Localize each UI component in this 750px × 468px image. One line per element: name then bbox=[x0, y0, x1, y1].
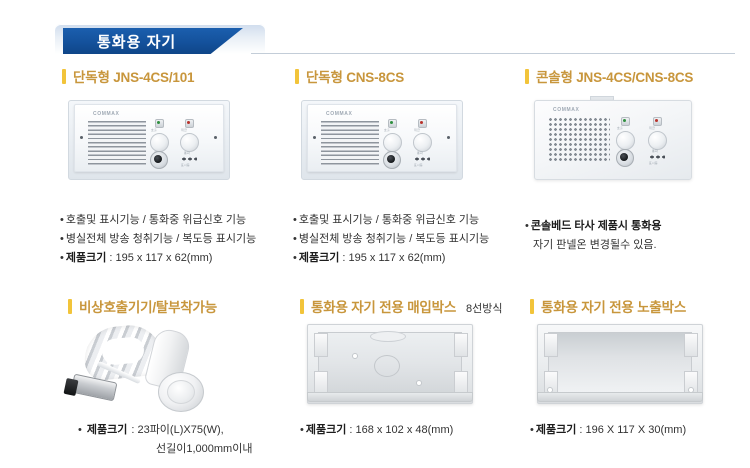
spec-bullet-size: • 제품크기 : 195 x 117 x 62(mm) bbox=[60, 250, 305, 266]
screw-hole-icon bbox=[352, 353, 358, 359]
product-card-emergency-button: 비상호출기기/탈부착가능 bbox=[68, 296, 298, 316]
title-accent-bar bbox=[62, 69, 66, 84]
spec-bullet: • 호출및 표시기능 / 통화중 위급신호 기능 bbox=[60, 212, 305, 228]
size-label: 제품크기 bbox=[299, 250, 339, 266]
product-card-jns-4cs-101: 단독형 JNS-4CS/101 bbox=[62, 66, 292, 86]
size-label: 제품크기 bbox=[66, 250, 106, 266]
product-title-row: 비상호출기기/탈부착가능 bbox=[68, 296, 298, 316]
title-accent-bar bbox=[525, 69, 529, 84]
product-card-console: 콘솔형 JNS-4CS/CNS-8CS bbox=[525, 66, 740, 86]
spec-bullet: • 병실전체 방송 청취기능 / 복도등 표시기능 bbox=[293, 231, 538, 247]
spec-text-continuation: 자기 판넬온 변경될수 있음. bbox=[525, 237, 735, 253]
size-value: : 195 x 117 x 62(mm) bbox=[109, 250, 212, 266]
status-label: 표시등 bbox=[414, 163, 423, 167]
banner-divider-line bbox=[251, 53, 735, 54]
brand-logo: COMMAX bbox=[326, 111, 352, 117]
mounting-bracket-icon bbox=[454, 333, 468, 357]
product-card-cns-8cs: 단독형 CNS-8CS bbox=[295, 66, 525, 86]
status-indicator-icon bbox=[649, 155, 665, 159]
bullet-dot-icon: • bbox=[60, 250, 64, 266]
brand-logo: COMMAX bbox=[93, 111, 119, 117]
console-faceplate: COMMAX 호출 위급 음량 통화 표시등 bbox=[534, 100, 692, 180]
size-value: : 195 x 117 x 62(mm) bbox=[342, 250, 445, 266]
center-knockout-icon bbox=[374, 355, 400, 377]
volume-knob[interactable] bbox=[150, 133, 169, 152]
screw-icon bbox=[80, 136, 83, 139]
product-specs-flush-box: • 제품크기 : 168 x 102 x 48(mm) bbox=[300, 422, 530, 441]
product-title: 통화용 자기 전용 매입박스 bbox=[311, 296, 456, 316]
console-intercom-icon: COMMAX 호출 위급 음량 통화 표시등 bbox=[522, 96, 700, 184]
screw-icon bbox=[447, 136, 450, 139]
spec-text: 병실전체 방송 청취기능 / 복도등 표시기능 bbox=[66, 231, 256, 247]
bullet-dot-icon: • bbox=[293, 231, 297, 247]
spec-bullet: • 호출및 표시기능 / 통화중 위급신호 기능 bbox=[293, 212, 538, 228]
call-label: 호출 bbox=[151, 128, 157, 132]
spec-bullet-size: • 제품크기 : 168 x 102 x 48(mm) bbox=[300, 422, 530, 438]
product-image-cns-8cs: COMMAX 호출 위급 음량 통화 표시등 bbox=[293, 96, 471, 182]
emergency-jack-icon[interactable] bbox=[616, 149, 634, 167]
product-title-row: 단독형 CNS-8CS bbox=[295, 66, 525, 86]
product-image-jns-4cs-101: COMMAX 호출 위급 음량 통화 표시등 bbox=[60, 96, 238, 182]
talk-knob[interactable] bbox=[413, 133, 432, 152]
product-specs-console: • 콘솔베드 타사 제품시 통화용 자기 판넬온 변경될수 있음. bbox=[525, 218, 735, 253]
spec-text: 호출및 표시기능 / 통화중 위급신호 기능 bbox=[66, 212, 246, 228]
emergency-label: 위급 bbox=[649, 126, 655, 130]
intercom-faceplate: COMMAX 호출 위급 음량 통화 표시등 bbox=[307, 104, 457, 172]
screw-icon bbox=[313, 136, 316, 139]
flush-mount-box-icon bbox=[295, 320, 485, 408]
speaker-grille-icon bbox=[548, 117, 610, 161]
emergency-jack-icon[interactable] bbox=[150, 151, 168, 169]
product-title: 단독형 JNS-4CS/101 bbox=[73, 66, 194, 86]
product-title-row: 콘솔형 JNS-4CS/CNS-8CS bbox=[525, 66, 740, 86]
product-specs-surface-box: • 제품크기 : 196 X 117 X 30(mm) bbox=[530, 422, 745, 441]
mounting-bracket-icon bbox=[314, 333, 328, 357]
surface-mount-box-icon bbox=[525, 320, 715, 408]
spec-bullet: • 콘솔베드 타사 제품시 통화용 bbox=[525, 218, 735, 234]
status-label: 표시등 bbox=[649, 161, 658, 165]
screw-hole-icon bbox=[416, 380, 422, 386]
section-banner: 통화용 자기 bbox=[55, 24, 735, 54]
brand-logo: COMMAX bbox=[553, 107, 579, 113]
product-specs-cns-8cs: • 호출및 표시기능 / 통화중 위급신호 기능 • 병실전체 방송 청취기능 … bbox=[293, 212, 538, 269]
product-title: 비상호출기기/탈부착가능 bbox=[79, 296, 217, 316]
size-value: : 196 X 117 X 30(mm) bbox=[579, 422, 686, 438]
bullet-dot-icon: • bbox=[525, 218, 529, 234]
wiring-note: 8선방식 bbox=[466, 300, 502, 316]
screw-icon bbox=[214, 136, 217, 139]
talk-label: 통화 bbox=[652, 149, 658, 153]
product-specs-jns-4cs-101: • 호출및 표시기능 / 통화중 위급신호 기능 • 병실전체 방송 청취기능 … bbox=[60, 212, 305, 269]
wall-intercom-icon: COMMAX 호출 위급 음량 통화 표시등 bbox=[293, 96, 471, 182]
product-title: 단독형 CNS-8CS bbox=[306, 66, 404, 86]
emergency-jack-icon[interactable] bbox=[383, 151, 401, 169]
product-image-console: COMMAX 호출 위급 음량 통화 표시등 bbox=[522, 96, 700, 184]
bullet-dot-icon: • bbox=[293, 250, 297, 266]
bullet-dot-icon: • bbox=[78, 422, 82, 438]
spec-text: 호출및 표시기능 / 통화중 위급신호 기능 bbox=[299, 212, 479, 228]
intercom-faceplate: COMMAX 호출 위급 음량 통화 표시등 bbox=[74, 104, 224, 172]
spec-bullet-size: • 제품크기 : 23파이(L)X75(W), bbox=[78, 422, 308, 438]
status-label: 표시등 bbox=[181, 163, 190, 167]
product-title: 통화용 자기 전용 노출박스 bbox=[541, 296, 686, 316]
talk-knob[interactable] bbox=[648, 131, 667, 150]
product-title: 콘솔형 JNS-4CS/CNS-8CS bbox=[536, 66, 693, 86]
status-indicator-icon bbox=[414, 157, 430, 161]
size-label: 제품크기 bbox=[306, 422, 346, 438]
box-front-lip bbox=[307, 392, 473, 402]
product-image-flush-box bbox=[295, 320, 485, 408]
product-image-emergency-button bbox=[66, 322, 256, 418]
emergency-label: 위급 bbox=[414, 128, 420, 132]
call-led-icon bbox=[621, 117, 630, 126]
size-label: 제품크기 bbox=[87, 422, 127, 438]
box-top-knockout bbox=[370, 331, 406, 342]
call-label: 호출 bbox=[384, 128, 390, 132]
mounting-bracket-icon bbox=[544, 333, 558, 357]
box-cavity bbox=[548, 332, 692, 394]
size-value-continuation: 선길이1,000mm이내 bbox=[78, 441, 308, 457]
call-label: 호출 bbox=[617, 126, 623, 130]
spec-text: 병실전체 방송 청취기능 / 복도등 표시기능 bbox=[299, 231, 489, 247]
wall-intercom-icon: COMMAX 호출 위급 음량 통화 표시등 bbox=[60, 96, 238, 182]
bullet-dot-icon: • bbox=[60, 231, 64, 247]
box-front-lip bbox=[537, 392, 703, 402]
product-card-surface-box: 통화용 자기 전용 노출박스 bbox=[530, 296, 745, 316]
page-title: 통화용 자기 bbox=[97, 31, 176, 52]
spec-bullet-size: • 제품크기 : 195 x 117 x 62(mm) bbox=[293, 250, 538, 266]
product-image-surface-box bbox=[525, 320, 715, 408]
emergency-call-handset-icon bbox=[66, 322, 256, 418]
product-title-row: 단독형 JNS-4CS/101 bbox=[62, 66, 292, 86]
speaker-grille-icon bbox=[321, 121, 379, 165]
call-led-icon bbox=[388, 119, 397, 128]
speaker-grille-icon bbox=[88, 121, 146, 165]
emergency-label: 위급 bbox=[181, 128, 187, 132]
bullet-dot-icon: • bbox=[60, 212, 64, 228]
call-led-icon bbox=[155, 119, 164, 128]
volume-knob[interactable] bbox=[616, 131, 635, 150]
product-title-row: 통화용 자기 전용 노출박스 bbox=[530, 296, 745, 316]
spec-text: 콘솔베드 타사 제품시 통화용 bbox=[531, 218, 662, 234]
emergency-led-icon bbox=[185, 119, 194, 128]
emergency-led-icon bbox=[653, 117, 662, 126]
product-specs-emergency-button: • 제품크기 : 23파이(L)X75(W), 선길이1,000mm이내 bbox=[78, 422, 308, 457]
spec-bullet-size: • 제품크기 : 196 X 117 X 30(mm) bbox=[530, 422, 745, 438]
status-indicator-icon bbox=[181, 157, 197, 161]
spec-bullet: • 병실전체 방송 청취기능 / 복도등 표시기능 bbox=[60, 231, 305, 247]
push-button-icon[interactable] bbox=[158, 372, 204, 412]
bullet-dot-icon: • bbox=[300, 422, 304, 438]
title-accent-bar bbox=[68, 299, 72, 314]
talk-label: 통화 bbox=[184, 151, 190, 155]
talk-label: 통화 bbox=[417, 151, 423, 155]
size-label: 제품크기 bbox=[536, 422, 576, 438]
mounting-bracket-icon bbox=[684, 333, 698, 357]
emergency-led-icon bbox=[418, 119, 427, 128]
talk-knob[interactable] bbox=[180, 133, 199, 152]
title-accent-bar bbox=[300, 299, 304, 314]
title-accent-bar bbox=[530, 299, 534, 314]
bullet-dot-icon: • bbox=[530, 422, 534, 438]
volume-knob[interactable] bbox=[383, 133, 402, 152]
size-value: : 23파이(L)X75(W), bbox=[131, 422, 223, 438]
bullet-dot-icon: • bbox=[293, 212, 297, 228]
size-value: : 168 x 102 x 48(mm) bbox=[349, 422, 453, 438]
title-accent-bar bbox=[295, 69, 299, 84]
